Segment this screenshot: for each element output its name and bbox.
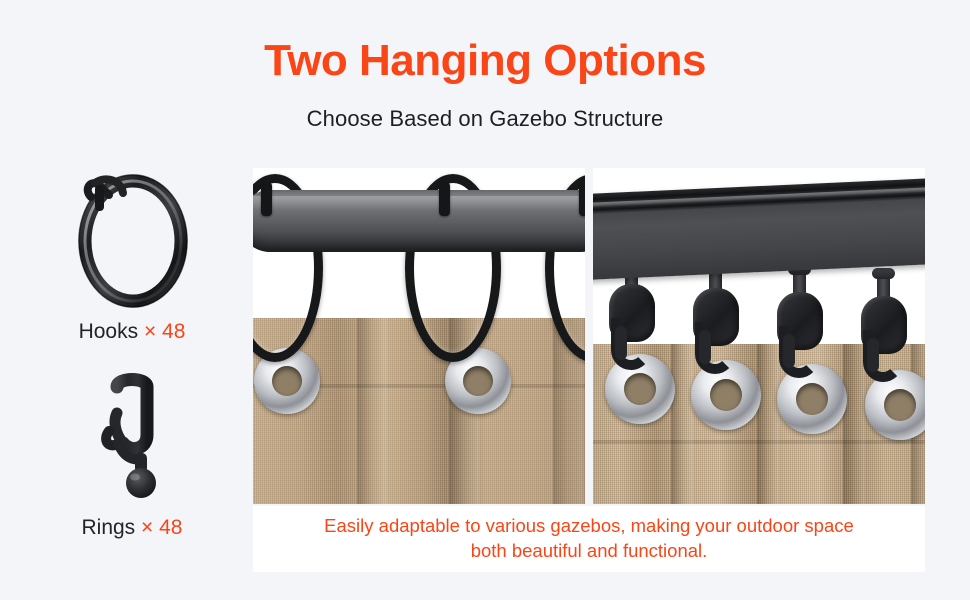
curtain-fabric (253, 318, 585, 504)
hook-tongue (615, 326, 627, 360)
legend-label-hooks-text: Hooks (79, 320, 139, 343)
product-legend: Hooks × 48 (18, 160, 246, 572)
page-subtitle: Choose Based on Gazebo Structure (0, 106, 970, 132)
hook-tongue (867, 338, 879, 372)
gazebo-pole (253, 190, 585, 252)
caption-line-2: both beautiful and functional. (471, 540, 708, 561)
legend-item-hooks: Hooks × 48 (18, 160, 246, 344)
legend-label-hooks: Hooks × 48 (18, 320, 246, 344)
curtain-hook-icon (18, 372, 246, 502)
curtain-hook (777, 264, 823, 384)
hooks-on-track-photo (593, 168, 925, 504)
ring-clasp (579, 182, 585, 216)
fabric-fold (357, 318, 387, 504)
caption-line-1: Easily adaptable to various gazebos, mak… (324, 515, 854, 536)
caption-band: Easily adaptable to various gazebos, mak… (253, 506, 925, 572)
hook-tongue (783, 334, 795, 368)
hook-tongue (699, 330, 711, 364)
legend-count-hooks: × 48 (144, 320, 185, 343)
curtain-hook (693, 260, 739, 380)
fabric-pleat (671, 344, 693, 504)
page-title: Two Hanging Options (0, 38, 970, 84)
curtain-hook (861, 268, 907, 388)
fabric-pleat (757, 344, 779, 504)
legend-label-rings: Rings × 48 (18, 516, 246, 540)
header: Two Hanging Options Choose Based on Gaze… (0, 0, 970, 132)
rings-on-pole-photo (253, 168, 585, 504)
legend-count-rings: × 48 (141, 516, 182, 539)
legend-label-rings-text: Rings (81, 516, 135, 539)
photo-gallery (253, 168, 925, 504)
caption-text: Easily adaptable to various gazebos, mak… (298, 514, 880, 564)
gazebo-track-rail (593, 178, 925, 280)
ring-clasp (439, 182, 450, 216)
legend-item-rings: Rings × 48 (18, 372, 246, 540)
curtain-ring-icon (18, 160, 246, 312)
ring-clasp (261, 182, 272, 216)
